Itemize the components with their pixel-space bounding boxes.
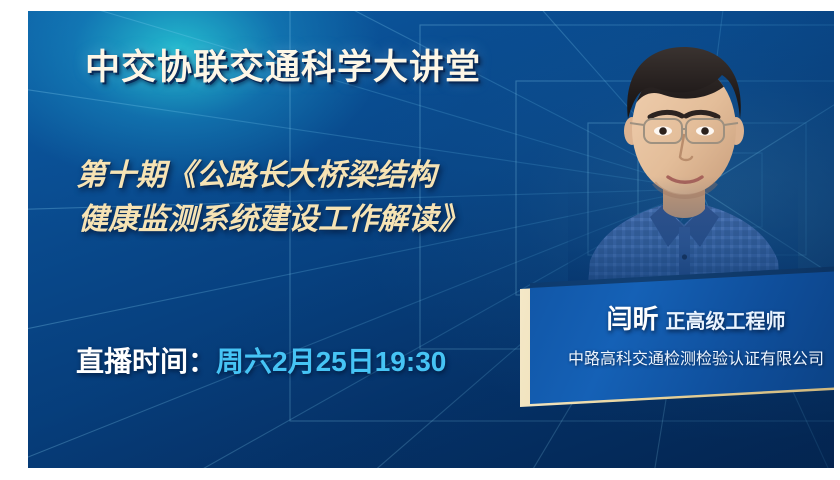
speaker-name: 闫昕 bbox=[606, 304, 658, 334]
speaker-name-row: 闫昕正高级工程师 bbox=[530, 299, 834, 336]
nameplate-content: 闫昕正高级工程师 中路高科交通检测检验认证有限公司 bbox=[530, 299, 834, 369]
speaker-nameplate: 闫昕正高级工程师 中路高科交通检测检验认证有限公司 bbox=[520, 283, 834, 411]
poster-stage: 中交协联交通科学大讲堂 第十期《公路长大桥梁结构 健康监测系统建设工作解读》 直… bbox=[28, 11, 834, 468]
subtitle-line-1: 第十期《公路长大桥梁结构 bbox=[76, 154, 468, 198]
livestream-poster: 中交协联交通科学大讲堂 第十期《公路长大桥梁结构 健康监测系统建设工作解读》 直… bbox=[0, 0, 840, 480]
live-time-label: 直播时间： bbox=[76, 346, 216, 377]
live-time-row: 直播时间：周六2月25日19:30 bbox=[76, 340, 446, 380]
speaker-photo bbox=[568, 11, 798, 311]
photo-bottom-fade bbox=[568, 11, 798, 311]
live-time-value: 周六2月25日19:30 bbox=[216, 346, 446, 377]
speaker-company: 中路高科交通检测检验认证有限公司 bbox=[530, 345, 834, 369]
subtitle-line-2: 健康监测系统建设工作解读》 bbox=[76, 198, 468, 242]
page-title: 中交协联交通科学大讲堂 bbox=[85, 39, 481, 90]
speaker-role: 正高级工程师 bbox=[666, 311, 786, 333]
episode-subtitle: 第十期《公路长大桥梁结构 健康监测系统建设工作解读》 bbox=[76, 154, 468, 242]
